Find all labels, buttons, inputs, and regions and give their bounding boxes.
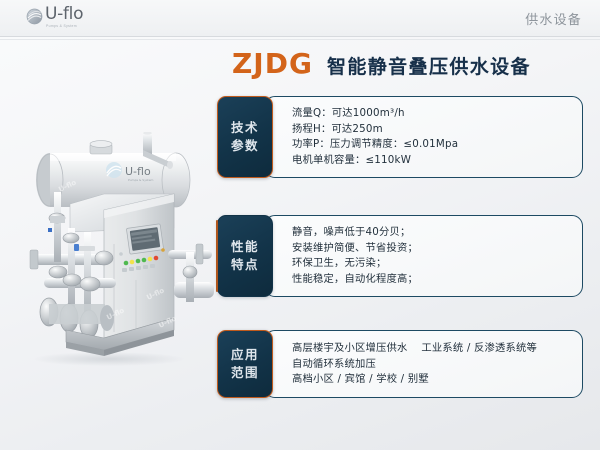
block-badge-technical-parameters[interactable]: 技术 参数 <box>217 96 273 178</box>
header-divider <box>0 36 600 37</box>
info-block-performance-features: 性能 特点 静音，噪声低于40分贝； 安装维护简便、节省投资； 环保卫生，无污染… <box>217 215 583 297</box>
badge-line-1: 技术 <box>231 119 259 137</box>
card-line: 环保卫生，无污染； <box>292 256 572 272</box>
badge-line-2: 范围 <box>231 364 259 382</box>
card-line: 电机单机容量：≤110kW <box>292 153 572 169</box>
brand-logo-textblock: U-flo Pumps & System <box>45 6 83 28</box>
title-model-code: ZJDG <box>232 47 313 80</box>
card-line: 性能稳定，自动化程度高； <box>292 272 572 288</box>
card-line: 自动循环系统加压 <box>292 357 572 373</box>
card-line: 功率P：压力调节精度：≤0.01Mpa <box>292 137 572 153</box>
svg-text:U-flo: U-flo <box>125 165 151 178</box>
page-title: ZJDG 智能静音叠压供水设备 <box>232 47 531 80</box>
block-card-performance-features: 静音，噪声低于40分贝； 安装维护简便、节省投资； 环保卫生，无污染； 性能稳定… <box>264 215 583 297</box>
brand-logo[interactable]: U-flo Pumps & System <box>26 6 83 28</box>
product-photo-shadow <box>34 352 184 366</box>
badge-line-2: 参数 <box>231 137 259 155</box>
card-line: 扬程H：可达250m <box>292 122 572 138</box>
brand-logo-word: U-flo <box>45 6 83 23</box>
card-line: 安装维护简便、节省投资； <box>292 241 572 257</box>
block-badge-application-scope[interactable]: 应用 范围 <box>217 330 273 398</box>
block-badge-performance-features[interactable]: 性能 特点 <box>217 215 273 297</box>
header-category-label: 供水设备 <box>525 9 582 28</box>
blind-flanges <box>40 298 114 338</box>
card-line: 流量Q：可达1000m³/h <box>292 106 572 122</box>
card-line: 高层楼宇及小区增压供水 工业系统 / 反渗透系统等 <box>292 341 572 357</box>
badge-line-1: 性能 <box>231 238 259 256</box>
badge-line-2: 特点 <box>231 256 259 274</box>
page-header <box>0 0 600 36</box>
slide-root: U-flo Pumps & System 供水设备 ZJDG 智能静音叠压供水设… <box>0 0 600 450</box>
svg-text:Pumps & System: Pumps & System <box>128 178 154 182</box>
card-line: 高档小区 / 宾馆 / 学校 / 别墅 <box>292 372 572 388</box>
info-block-application-scope: 应用 范围 高层楼宇及小区增压供水 工业系统 / 反渗透系统等 自动循环系统加压… <box>217 330 583 398</box>
badge-line-1: 应用 <box>231 346 259 364</box>
title-product-name: 智能静音叠压供水设备 <box>327 52 531 79</box>
globe-swirl-icon <box>26 8 43 25</box>
card-line: 静音，噪声低于40分贝； <box>292 225 572 241</box>
product-photo: U-flo Pumps & System <box>8 132 220 372</box>
info-block-technical-parameters: 技术 参数 流量Q：可达1000m³/h 扬程H：可达250m 功率P：压力调节… <box>217 96 583 178</box>
header-divider-secondary <box>0 39 600 40</box>
brand-logo-tagline: Pumps & System <box>46 25 83 28</box>
block-card-application-scope: 高层楼宇及小区增压供水 工业系统 / 反渗透系统等 自动循环系统加压 高档小区 … <box>264 330 583 398</box>
block-card-technical-parameters: 流量Q：可达1000m³/h 扬程H：可达250m 功率P：压力调节精度：≤0.… <box>264 96 583 178</box>
